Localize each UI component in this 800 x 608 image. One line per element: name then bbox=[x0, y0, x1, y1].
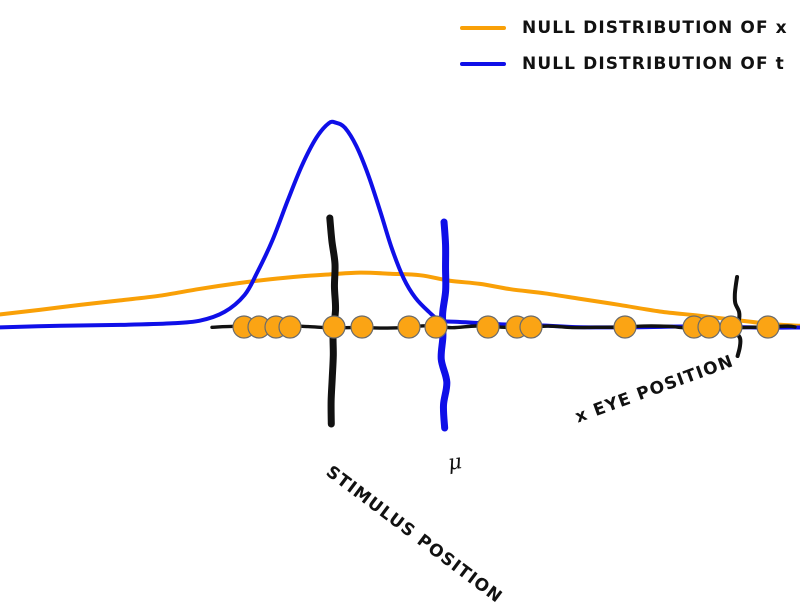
null-distribution-t-curve bbox=[0, 122, 799, 328]
figure-canvas: NULL DISTRIBUTION OF x NULL DISTRIBUTION… bbox=[0, 0, 800, 600]
sample-dot bbox=[398, 316, 420, 338]
sample-dot bbox=[425, 316, 447, 338]
legend-item-null-distribution-t: NULL DISTRIBUTION OF t bbox=[460, 46, 800, 82]
legend-item-null-distribution-x: NULL DISTRIBUTION OF x bbox=[460, 10, 800, 46]
plot-area bbox=[0, 0, 800, 600]
sample-dot bbox=[757, 316, 779, 338]
sample-dot bbox=[351, 316, 373, 338]
legend-swatch-blue bbox=[460, 62, 506, 66]
legend: NULL DISTRIBUTION OF x NULL DISTRIBUTION… bbox=[460, 10, 800, 82]
sample-dot bbox=[720, 316, 742, 338]
sample-dot bbox=[520, 316, 542, 338]
sample-dot bbox=[323, 316, 345, 338]
legend-swatch-orange bbox=[460, 26, 506, 30]
sample-dot bbox=[477, 316, 499, 338]
legend-label-null-distribution-x: NULL DISTRIBUTION OF x bbox=[522, 18, 788, 38]
sample-dot bbox=[279, 316, 301, 338]
sample-dot bbox=[698, 316, 720, 338]
sample-dot bbox=[614, 316, 636, 338]
legend-label-null-distribution-t: NULL DISTRIBUTION OF t bbox=[522, 54, 785, 74]
null-distribution-x-curve bbox=[0, 273, 800, 326]
curve-group bbox=[0, 122, 800, 328]
